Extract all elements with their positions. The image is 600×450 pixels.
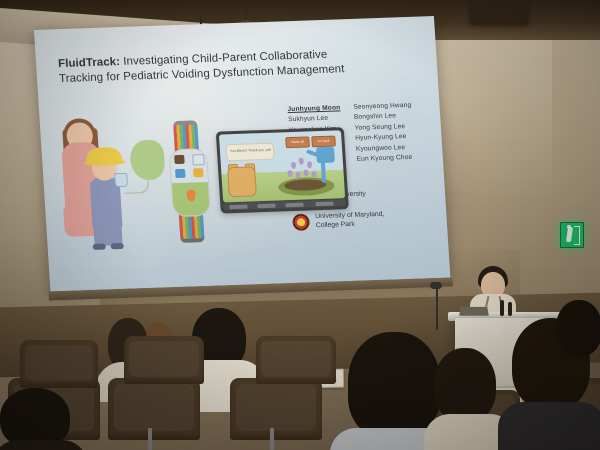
author-name: Kyoungwoo Lee — [356, 143, 414, 152]
speech-bubble-text: You filled it! Thank you, pal! — [230, 148, 272, 153]
slide-title-lead: FluidTrack: — [58, 56, 121, 70]
watering-can-icon — [316, 147, 335, 164]
affiliation-name-block: University of Maryland, College Park — [315, 211, 385, 231]
author-name: Yong Seung Lee — [354, 123, 412, 132]
chair — [256, 336, 336, 384]
chair — [124, 336, 204, 384]
app-secondary-button-label: Go back — [312, 139, 334, 144]
laptop-icon — [459, 307, 489, 316]
audience-member — [556, 300, 600, 370]
app-screen: You filled it! Thank you, pal! — [219, 130, 345, 202]
slide-surface: FluidTrack: Investigating Child-Parent C… — [34, 16, 450, 291]
speech-bubble: You filled it! Thank you, pal! — [226, 143, 275, 162]
app-secondary-button: Go back — [311, 136, 336, 148]
chair — [20, 340, 98, 388]
smartwatch-illustration — [164, 120, 214, 243]
author-name: Sukhyun Lee — [288, 115, 341, 124]
conference-room-photo: FluidTrack: Investigating Child-Parent C… — [0, 0, 600, 450]
audience-member — [0, 388, 86, 450]
chair-leg — [148, 428, 152, 450]
pixel-cat-icon — [227, 166, 257, 197]
author-column-right: Seonyeong Hwang Bongshin Lee Yong Seung … — [353, 102, 415, 163]
podium-microphone-icon — [508, 302, 512, 316]
chair — [108, 378, 200, 440]
right-wall-panel — [432, 31, 552, 197]
watch-app-icon — [193, 168, 204, 177]
watch-app-icon — [192, 154, 205, 165]
author-name: Junhyung Moon — [287, 104, 340, 113]
watch-app-icon — [174, 155, 185, 164]
watch-app-icon — [175, 169, 186, 178]
chair-leg — [270, 428, 274, 450]
emergency-exit-sign-icon — [560, 222, 584, 248]
projection-screen: FluidTrack: Investigating Child-Parent C… — [34, 16, 452, 319]
author-name: Hyun-Kyung Lee — [355, 133, 413, 142]
affiliation-item: University of Maryland, College Park — [292, 211, 385, 231]
author-name: Bongshin Lee — [354, 112, 412, 121]
floor-microphone-stand — [436, 288, 438, 330]
umd-seal-icon — [292, 214, 310, 232]
app-primary-button-label: Water all — [286, 140, 308, 145]
parent-and-child-illustration — [56, 117, 172, 251]
tablet-app-mockup: You filled it! Thank you, pal! — [216, 127, 349, 213]
podium-microphone-icon — [500, 300, 504, 316]
microphone-icon — [430, 282, 442, 289]
author-name: Seonyeong Hwang — [353, 102, 411, 111]
ceiling-speaker-icon — [470, 2, 528, 24]
app-primary-button: Water all — [285, 136, 310, 148]
chair — [230, 378, 322, 440]
